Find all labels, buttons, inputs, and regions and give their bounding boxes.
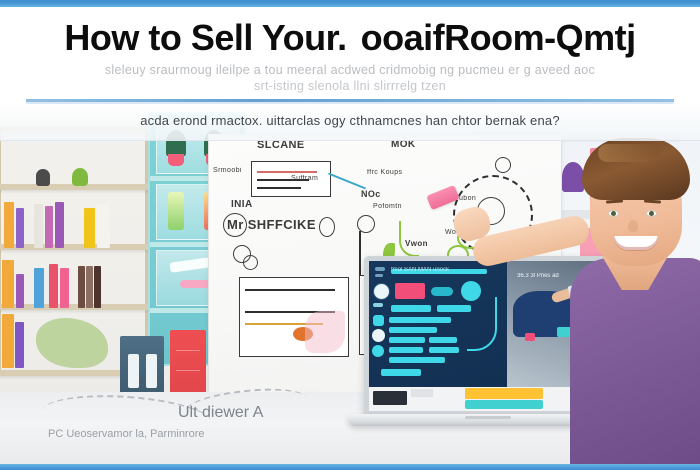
wb-note: NOc bbox=[361, 189, 381, 199]
presenter-smile bbox=[614, 236, 658, 250]
wb-note: Mr SHFFCIKE bbox=[227, 217, 316, 232]
blue-cabinet bbox=[120, 336, 164, 394]
screen-thumb bbox=[373, 391, 407, 405]
shelf-book bbox=[60, 268, 69, 308]
bottom-note-line-2: PC Ueoservamor la, Parminrore bbox=[48, 428, 205, 440]
cabinet-bottle bbox=[146, 354, 157, 388]
shelf-book bbox=[34, 268, 44, 308]
screen-curve bbox=[467, 297, 497, 351]
shelf-book bbox=[49, 264, 58, 308]
shelf-book bbox=[97, 204, 110, 248]
subtitle-line-2: srt-isting slenola llni slirrrelg tzen bbox=[0, 78, 700, 94]
top-accent-bar bbox=[0, 0, 700, 7]
wb-note: Pofomtn bbox=[373, 203, 402, 210]
wb-note: Vwon bbox=[405, 239, 428, 248]
screen-icon bbox=[373, 315, 384, 326]
bottom-accent-bar bbox=[0, 464, 700, 470]
page-title-part1: How to Sell Your. bbox=[64, 17, 346, 58]
shelf-book bbox=[2, 260, 14, 308]
screen-text-lines bbox=[411, 389, 433, 397]
shelf-book bbox=[55, 202, 64, 248]
shelf-book bbox=[16, 274, 24, 308]
wb-note: ffrc Koups bbox=[367, 169, 402, 176]
diagram-node bbox=[319, 217, 335, 237]
question-text: acda erond rmactox. uittarclas ogy cthna… bbox=[0, 113, 700, 128]
screen-icon bbox=[372, 345, 384, 357]
wb-note: INIA bbox=[231, 199, 253, 210]
diagram-stroke bbox=[257, 187, 301, 189]
shelf-book bbox=[34, 204, 43, 248]
screen-pill bbox=[431, 287, 453, 296]
bottom-note-line-1: Ult diewer A bbox=[178, 404, 263, 422]
screen-pink-card bbox=[395, 283, 425, 299]
subtitle-line-1: sleleuy sraurmoug ileilpe a tou meeral a… bbox=[105, 63, 595, 77]
screen-left-panel: fmol SAN MAN unock bbox=[369, 261, 507, 387]
article-header-graphic: How to Sell Your.ooaifRoom-Qmtj sleleuy … bbox=[0, 0, 700, 470]
shelf-book bbox=[78, 266, 85, 308]
shelf-book bbox=[86, 266, 93, 308]
red-cabinet bbox=[170, 330, 206, 394]
wb-note: ubon bbox=[459, 195, 476, 202]
shelf-book bbox=[2, 314, 14, 368]
diagram-connector bbox=[359, 231, 361, 277]
presenter-hair bbox=[582, 138, 690, 200]
presenter-eye bbox=[646, 210, 657, 217]
wb-note: Suffram bbox=[291, 175, 318, 182]
shelf-book bbox=[4, 202, 14, 248]
scene: SLCANE Srmoobi Suffram INIA Mr SHFFCIKE … bbox=[0, 104, 700, 464]
shelf-item bbox=[36, 169, 50, 186]
page-title-part2: ooaifRoom-Qmtj bbox=[361, 17, 636, 58]
question-band: acda erond rmactox. uittarclas ogy cthna… bbox=[0, 104, 700, 141]
diagram-pink-shape bbox=[305, 311, 345, 353]
presenter-nose bbox=[628, 220, 638, 232]
presenter bbox=[568, 130, 700, 464]
diagram-stroke bbox=[245, 289, 335, 291]
shelf-plant bbox=[72, 168, 88, 186]
diagram-node bbox=[495, 157, 511, 173]
page-title: How to Sell Your.ooaifRoom-Qmtj bbox=[0, 17, 700, 59]
header: How to Sell Your.ooaifRoom-Qmtj sleleuy … bbox=[0, 7, 700, 100]
shelf-book bbox=[94, 266, 101, 308]
diagram-connector bbox=[328, 173, 366, 190]
shelf-book bbox=[16, 208, 24, 248]
screen-avatar bbox=[372, 329, 385, 342]
diagram-stroke bbox=[257, 171, 317, 173]
cabinet-bottle bbox=[128, 354, 139, 388]
cabinet-plant-pot bbox=[168, 154, 184, 166]
screen-title: fmol SAN MAN unock bbox=[391, 267, 449, 273]
page-subtitle: sleleuy sraurmoug ileilpe a tou meeral a… bbox=[0, 62, 700, 94]
screen-right-label: 36.3 3l Pnes ad bbox=[517, 273, 559, 279]
wb-note: Srmoobi bbox=[213, 167, 242, 174]
cabinet-bottle bbox=[168, 192, 184, 230]
shelf-decor-leaf bbox=[36, 318, 108, 368]
presenter-eye bbox=[608, 210, 619, 217]
shelf-book bbox=[84, 208, 95, 248]
shelf-book bbox=[15, 322, 24, 368]
diagram-node bbox=[243, 255, 258, 270]
shelf-book bbox=[45, 206, 53, 248]
screen-avatar bbox=[373, 283, 390, 300]
